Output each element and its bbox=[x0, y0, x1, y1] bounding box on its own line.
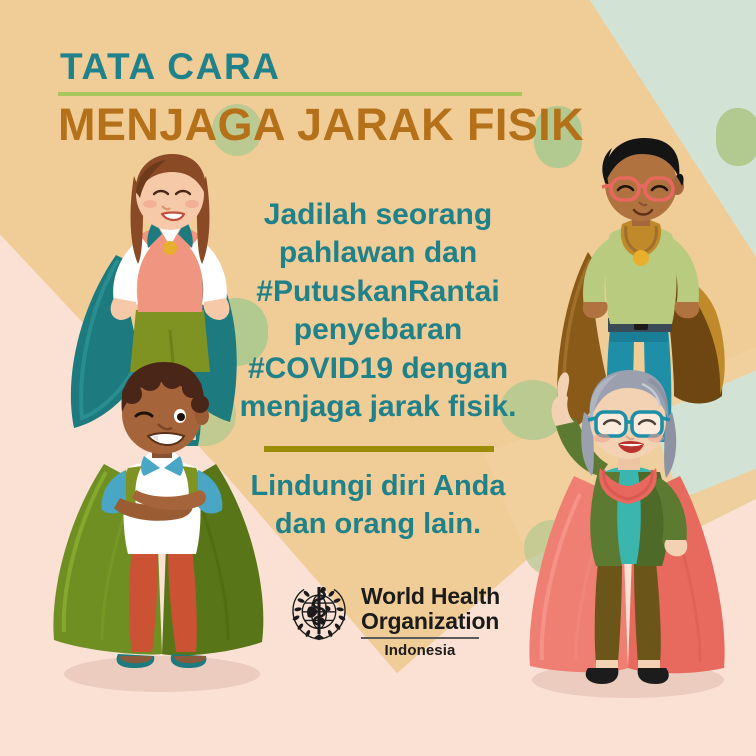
who-country-label: Indonesia bbox=[361, 642, 479, 659]
message-line: menjaga jarak fisik. bbox=[196, 388, 560, 426]
message-line: dan orang lain. bbox=[196, 506, 560, 544]
who-logo: World Health Organization Indonesia bbox=[288, 582, 500, 659]
message-line: #COVID19 dengan bbox=[196, 350, 560, 388]
message-divider bbox=[264, 446, 494, 452]
title-divider bbox=[58, 92, 522, 96]
who-logo-separator bbox=[361, 637, 479, 639]
message-line: #PutuskanRantai bbox=[196, 273, 560, 311]
who-logo-text: World Health Organization Indonesia bbox=[361, 582, 500, 659]
message-line: pahlawan dan bbox=[196, 234, 560, 272]
message-line: Lindungi diri Anda bbox=[196, 468, 560, 506]
poster-canvas: TATA CARA MENJAGA JARAK FISIK Jadilah se… bbox=[0, 0, 756, 756]
who-org-line-1: World Health bbox=[361, 584, 500, 609]
message-line: Jadilah seorang bbox=[196, 196, 560, 234]
who-org-line-2: Organization bbox=[361, 609, 500, 634]
message-primary: Jadilah seorang pahlawan dan #PutuskanRa… bbox=[196, 196, 560, 426]
page-title-main: MENJAGA JARAK FISIK bbox=[58, 102, 584, 147]
who-emblem-icon bbox=[288, 582, 350, 644]
message-line: penyebaran bbox=[196, 311, 560, 349]
header: TATA CARA MENJAGA JARAK FISIK bbox=[58, 48, 584, 147]
page-title-top: TATA CARA bbox=[60, 48, 584, 85]
message-secondary: Lindungi diri Anda dan orang lain. bbox=[196, 468, 560, 543]
